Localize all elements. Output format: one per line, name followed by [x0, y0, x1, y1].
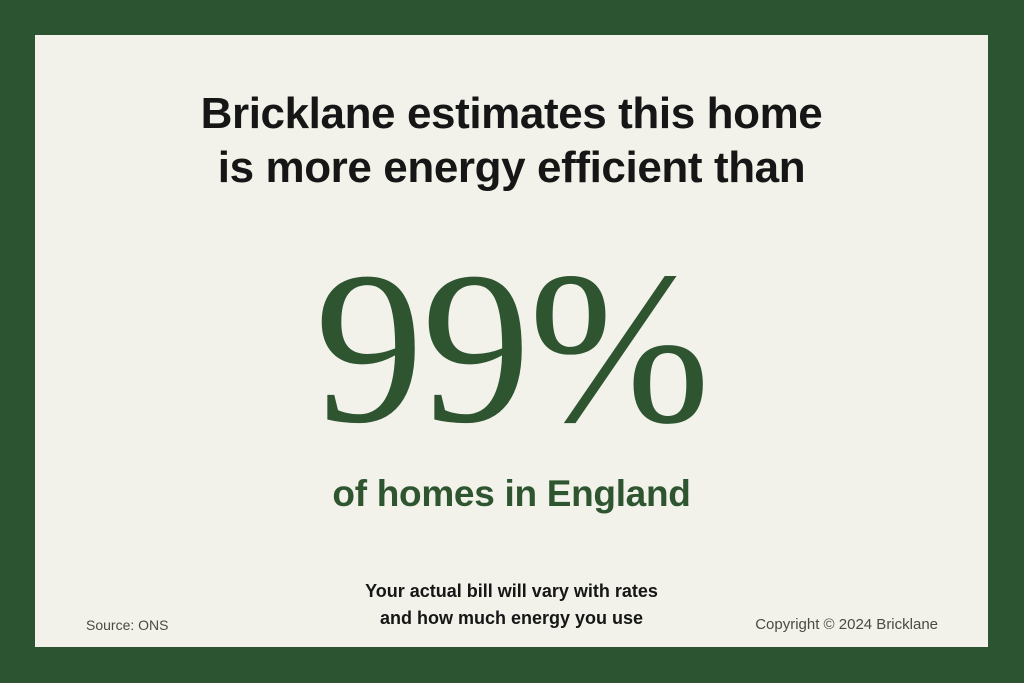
headline: Bricklane estimates this home is more en… [35, 87, 988, 195]
copyright-notice: Copyright © 2024 Bricklane [755, 614, 938, 636]
disclaimer-line-1: Your actual bill will vary with rates [35, 578, 988, 605]
card-footer: Source: ONS Copyright © 2024 Bricklane [35, 614, 988, 636]
headline-line-2: is more energy efficient than [35, 141, 988, 195]
energy-efficiency-card: Bricklane estimates this home is more en… [35, 35, 988, 647]
efficiency-percentage-stat: 99% [35, 240, 988, 458]
source-attribution: Source: ONS [86, 614, 168, 636]
stat-sub-caption: of homes in England [35, 472, 988, 516]
headline-line-1: Bricklane estimates this home [35, 87, 988, 141]
